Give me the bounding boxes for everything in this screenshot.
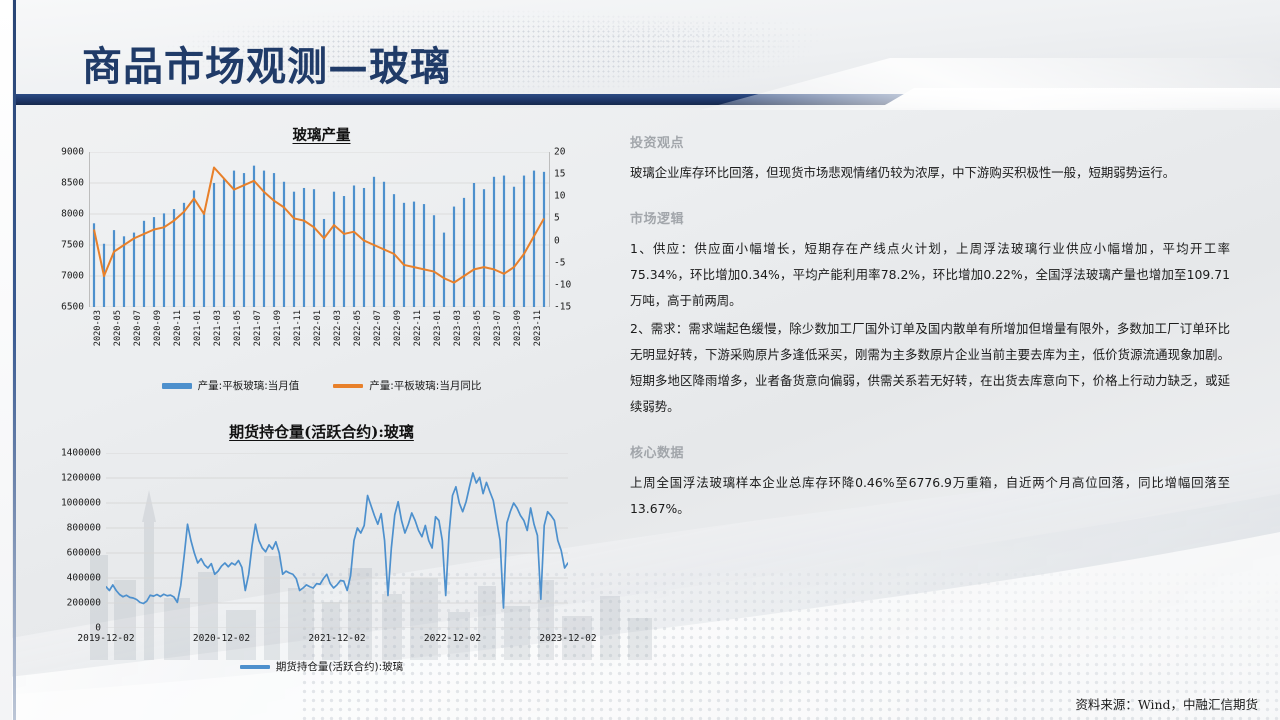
bar bbox=[433, 215, 435, 307]
y-axis-tick-label: 400000 bbox=[67, 573, 106, 584]
y-axis-tick-label: 8500 bbox=[61, 178, 89, 189]
commentary-section-heading: 核心数据 bbox=[630, 442, 1230, 461]
bar bbox=[353, 185, 355, 307]
x-axis-tick-label: 2023-05 bbox=[473, 310, 483, 346]
x-axis-tick-label: 2023-03 bbox=[453, 310, 463, 346]
chart-glass-output-xaxis: 2020-032020-052020-072020-092020-112021-… bbox=[89, 310, 549, 372]
y-axis-tick-label: 600000 bbox=[67, 548, 106, 559]
chart-glass-output-legend: 产量:平板玻璃:当月值 产量:平板玻璃:当月同比 bbox=[34, 378, 609, 393]
bar bbox=[383, 182, 385, 307]
secondary-y-axis-tick-label: -10 bbox=[549, 279, 571, 290]
bar bbox=[403, 203, 405, 307]
commentary-paragraph: 上周全国浮法玻璃样本企业总库存环降0.46%至6776.9万重箱，自近两个月高位… bbox=[630, 470, 1230, 522]
bar bbox=[453, 207, 455, 307]
y-axis-line bbox=[89, 152, 90, 307]
x-axis-tick-label: 2020-03 bbox=[93, 310, 103, 346]
x-axis-tick-label: 2021-09 bbox=[273, 310, 283, 346]
y-axis-tick-label: 200000 bbox=[67, 598, 106, 609]
x-axis-tick-label: 2022-07 bbox=[373, 310, 383, 346]
legend-label: 产量:平板玻璃:当月值 bbox=[198, 378, 300, 393]
source-note: 资料来源：Wind，中融汇信期货 bbox=[1075, 694, 1258, 713]
legend-item: 产量:平板玻璃:当月值 bbox=[162, 378, 300, 393]
y-axis-tick-label: 0 bbox=[95, 623, 106, 634]
chart-glass-open-interest-canvas bbox=[106, 453, 568, 628]
x-axis-tick-label: 2020-05 bbox=[113, 310, 123, 346]
commentary-section-heading: 市场逻辑 bbox=[630, 208, 1230, 227]
secondary-y-axis-tick-label: -15 bbox=[549, 302, 571, 313]
bar bbox=[413, 202, 415, 307]
x-axis-tick-label: 2020-11 bbox=[173, 310, 183, 346]
section-gap bbox=[630, 422, 1230, 442]
left-accent-rail bbox=[13, 0, 16, 720]
y-axis-tick-label: 7500 bbox=[61, 240, 89, 251]
commentary-paragraph: 2、需求：需求端起色缓慢，除少数加工厂国外订单及国内散单有所增加但增量有限外，多… bbox=[630, 316, 1230, 420]
x-axis-tick-label: 2021-05 bbox=[233, 310, 243, 346]
secondary-y-axis-tick-label: 0 bbox=[549, 235, 560, 246]
page-title: 商品市场观测—玻璃 bbox=[82, 34, 451, 92]
x-axis-tick-label: 2021-11 bbox=[293, 310, 303, 346]
bar bbox=[323, 219, 325, 307]
secondary-y-axis-tick-label: 10 bbox=[549, 191, 565, 202]
secondary-y-axis-tick-label: 15 bbox=[549, 169, 565, 180]
bar bbox=[493, 177, 495, 307]
bar bbox=[363, 188, 365, 307]
bar bbox=[233, 171, 235, 307]
legend-swatch-line bbox=[240, 665, 270, 669]
line-series bbox=[94, 168, 544, 283]
y-axis-tick-label: 7000 bbox=[61, 271, 89, 282]
bar bbox=[423, 204, 425, 307]
bar bbox=[183, 203, 185, 307]
x-axis-tick-label: 2023-01 bbox=[433, 310, 443, 346]
bar bbox=[193, 190, 195, 307]
charts-column: 玻璃产量 90008500800075007000650020151050-5-… bbox=[34, 124, 609, 704]
bar bbox=[223, 179, 225, 307]
bar bbox=[273, 173, 275, 307]
y-axis-tick-label: 800000 bbox=[67, 523, 106, 534]
left-margin-strip bbox=[0, 0, 12, 720]
bar bbox=[483, 189, 485, 307]
bar bbox=[283, 182, 285, 307]
slide-canvas: 商品市场观测—玻璃 玻璃产量 9000850080007500700065002… bbox=[0, 0, 1280, 720]
bar bbox=[293, 192, 295, 307]
commentary-paragraph: 玻璃企业库存环比回落，但现货市场悲观情绪仍较为浓厚，中下游购买积极性一般，短期弱… bbox=[630, 160, 1230, 186]
legend-label: 期货持仓量(活跃合约):玻璃 bbox=[276, 659, 403, 674]
bar bbox=[313, 189, 315, 307]
bar bbox=[473, 183, 475, 307]
bar bbox=[253, 166, 255, 307]
chart-title-glass-output: 玻璃产量 bbox=[34, 124, 609, 145]
x-axis-tick-label: 2021-03 bbox=[213, 310, 223, 346]
section-gap bbox=[630, 188, 1230, 208]
bar bbox=[303, 188, 305, 307]
bar bbox=[133, 233, 135, 307]
x-axis-tick-label: 2021-07 bbox=[253, 310, 263, 346]
x-axis-tick-label: 2022-03 bbox=[333, 310, 343, 346]
chart-glass-output: 玻璃产量 90008500800075007000650020151050-5-… bbox=[34, 124, 609, 409]
secondary-y-axis-tick-label: 20 bbox=[549, 147, 565, 158]
bar bbox=[373, 177, 375, 307]
secondary-y-axis-line bbox=[549, 152, 550, 307]
x-axis-tick-label: 2022-11 bbox=[413, 310, 423, 346]
y-axis-tick-label: 9000 bbox=[61, 147, 89, 158]
chart-glass-open-interest-xaxis: 2019-12-022020-12-022021-12-022022-12-02… bbox=[106, 633, 568, 651]
x-axis-tick-label: 2022-01 bbox=[313, 310, 323, 346]
x-axis-tick-label: 2023-07 bbox=[493, 310, 503, 346]
legend-item: 产量:平板玻璃:当月同比 bbox=[333, 378, 481, 393]
x-axis-tick-label: 2020-07 bbox=[133, 310, 143, 346]
x-axis-tick-label: 2023-11 bbox=[533, 310, 543, 346]
chart-glass-output-plot: 90008500800075007000650020151050-5-10-15 bbox=[89, 152, 549, 307]
y-axis-tick-label: 1200000 bbox=[61, 473, 106, 484]
bar bbox=[463, 198, 465, 307]
x-axis-tick-label: 2021-01 bbox=[193, 310, 203, 346]
x-axis-tick-label: 2020-09 bbox=[153, 310, 163, 346]
y-axis-tick-label: 8000 bbox=[61, 209, 89, 220]
commentary-section-heading: 投资观点 bbox=[630, 132, 1230, 151]
commentary-panel: 投资观点玻璃企业库存环比回落，但现货市场悲观情绪仍较为浓厚，中下游购买积极性一般… bbox=[630, 132, 1230, 524]
bar bbox=[243, 173, 245, 307]
x-axis-tick-label: 2019-12-02 bbox=[77, 633, 134, 644]
secondary-y-axis-tick-label: -5 bbox=[549, 257, 565, 268]
bar bbox=[503, 176, 505, 307]
legend-swatch-bar bbox=[162, 383, 192, 389]
bar bbox=[343, 196, 345, 307]
x-axis-tick-label: 2022-09 bbox=[393, 310, 403, 346]
bar bbox=[523, 176, 525, 307]
bar bbox=[113, 230, 115, 307]
bar bbox=[543, 172, 545, 307]
x-axis-tick-label: 2021-12-02 bbox=[308, 633, 365, 644]
chart-glass-open-interest-legend: 期货持仓量(活跃合约):玻璃 bbox=[34, 659, 609, 674]
y-axis-tick-label: 1400000 bbox=[61, 448, 106, 459]
x-axis-tick-label: 2022-12-02 bbox=[424, 633, 481, 644]
commentary-paragraph: 1、供应：供应面小幅增长，短期存在产线点火计划，上周浮法玻璃行业供应小幅增加，平… bbox=[630, 236, 1230, 314]
bar bbox=[203, 211, 205, 307]
legend-label: 产量:平板玻璃:当月同比 bbox=[369, 378, 481, 393]
chart-glass-output-canvas bbox=[89, 152, 549, 307]
bar bbox=[333, 192, 335, 307]
x-axis-tick-label: 2022-05 bbox=[353, 310, 363, 346]
x-axis-tick-label: 2023-09 bbox=[513, 310, 523, 346]
y-axis-tick-label: 1000000 bbox=[61, 498, 106, 509]
x-axis-tick-label: 2020-12-02 bbox=[193, 633, 250, 644]
bar bbox=[123, 236, 125, 307]
secondary-y-axis-tick-label: 5 bbox=[549, 213, 560, 224]
line-series bbox=[106, 473, 568, 608]
bar bbox=[213, 183, 215, 307]
chart-title-glass-open-interest: 期货持仓量(活跃合约):玻璃 bbox=[34, 421, 609, 442]
bar bbox=[393, 194, 395, 307]
chart-glass-open-interest-plot: 1400000120000010000008000006000004000002… bbox=[106, 453, 568, 628]
legend-item: 期货持仓量(活跃合约):玻璃 bbox=[240, 659, 403, 674]
legend-swatch-line bbox=[333, 384, 363, 388]
bar bbox=[173, 209, 175, 307]
bar bbox=[443, 233, 445, 307]
bar bbox=[513, 187, 515, 307]
y-axis-tick-label: 6500 bbox=[61, 302, 89, 313]
chart-glass-open-interest: 期货持仓量(活跃合约):玻璃 1400000120000010000008000… bbox=[34, 421, 609, 696]
x-axis-tick-label: 2023-12-02 bbox=[539, 633, 596, 644]
